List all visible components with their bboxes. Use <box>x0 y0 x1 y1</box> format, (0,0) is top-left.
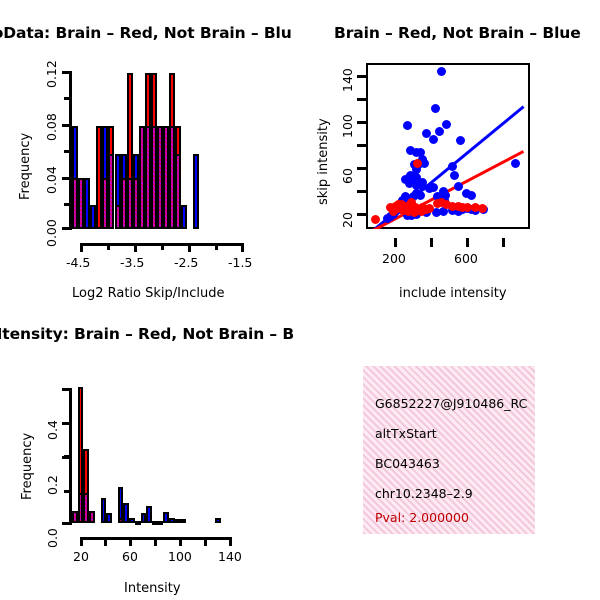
scatter-point-blue <box>437 67 446 76</box>
scatter-x-tick-800 <box>502 238 505 247</box>
intensity-x-tick-80 <box>154 537 157 546</box>
scatter-y-tick-40 <box>357 190 366 193</box>
ratio-y-tick-0.12 <box>62 71 70 74</box>
intensity-y-ticklabel-0.2: 0.2 <box>45 475 60 495</box>
scatter-x-ticklabel-600: 600 <box>454 251 478 266</box>
info-pval: Pval: 2.000000 <box>375 510 469 525</box>
intensity-x-ticklabel-140: 140 <box>218 549 242 564</box>
histogram-bar-blue <box>215 518 221 523</box>
intensity-y-ticklabel-0.4: 0.4 <box>45 420 60 440</box>
intensity-y-tick-top <box>62 388 70 391</box>
scatter-xlabel: include intensity <box>399 286 507 301</box>
scatter-point-blue <box>454 182 463 191</box>
scatter-y-ticklabel-60: 60 <box>340 168 355 184</box>
scatter-point-blue <box>456 136 465 145</box>
gene-info-panel: G6852227@J910486_RC altTxStart BC043463 … <box>363 366 535 534</box>
ratio-x-tick-1.5 <box>241 243 244 252</box>
intensity-x-tick-100 <box>179 537 182 546</box>
ratio-y-tick-0.08 <box>62 124 70 127</box>
scatter-point-blue <box>412 173 421 182</box>
histogram-bar-blue <box>181 519 187 523</box>
scatter-point-blue <box>383 214 392 223</box>
intensity-x-tick-60 <box>129 537 132 546</box>
info-event-type: altTxStart <box>375 426 437 441</box>
ratio-y-tick-0.04 <box>62 177 70 180</box>
intensity-x-tick-120 <box>204 537 207 546</box>
intensity-histogram-ylabel: Frequency <box>20 433 35 500</box>
intensity-x-ticklabel-100: 100 <box>168 549 192 564</box>
ratio-y-ticklabel-3: 0.00 <box>44 219 59 247</box>
scatter-point-blue <box>442 120 451 129</box>
intensity-x-ticklabel-60: 60 <box>122 549 138 564</box>
intensity-x-ticklabel-20: 20 <box>73 549 89 564</box>
ratio-x-tick-2.5 <box>188 243 191 252</box>
ratio-x-tick-4.0 <box>107 243 110 250</box>
scatter-ylabel: skip intensity <box>316 118 331 205</box>
info-locus: chr10.2348–2.9 <box>375 486 473 501</box>
ratio-histogram-ylabel: Frequency <box>18 133 33 200</box>
ratio-x-tick-2.0 <box>215 243 218 250</box>
ratio-y-tick-0.10 <box>64 97 70 100</box>
scatter-title: Brain – Red, Not Brain – Blue <box>334 24 581 42</box>
scatter-y-tick-120 <box>357 98 366 101</box>
ratio-x-ticklabel-2: -2.5 <box>174 255 198 270</box>
info-accession: BC043463 <box>375 456 440 471</box>
ratio-x-ticklabel-0: -4.5 <box>66 255 90 270</box>
scatter-point-red <box>425 204 434 213</box>
intensity-histogram-xlabel: Intensity <box>124 581 181 596</box>
ratio-y-ticklabel-2: 0.04 <box>44 166 59 194</box>
ratio-y-tick-0.06 <box>64 150 70 153</box>
scatter-y-ticklabel-20: 20 <box>340 212 355 228</box>
intensity-x-tick-40 <box>104 537 107 546</box>
scatter-point-blue <box>435 127 444 136</box>
scatter-y-ticklabel-140: 140 <box>340 68 355 92</box>
scatter-x-ticklabel-200: 200 <box>382 251 406 266</box>
scatter-x-tick-200 <box>394 238 397 247</box>
ratio-histogram-xlabel: Log2 Ratio Skip/Include <box>72 286 224 301</box>
ratio-x-tick-4.5 <box>80 243 83 252</box>
scatter-y-tick-60 <box>357 167 366 170</box>
ratio-x-ticklabel-3: -1.5 <box>228 255 252 270</box>
intensity-y-tick-0.4 <box>62 422 70 425</box>
scatter-points-layer <box>366 63 530 229</box>
ratio-y-ticklabel-1: 0.08 <box>44 113 59 141</box>
intensity-x-tick-140 <box>229 537 232 546</box>
intensity-y-tick-0.2 <box>62 456 70 459</box>
intensity-y-ticklabel-0.0: 0.0 <box>45 528 60 548</box>
scatter-point-blue <box>403 121 412 130</box>
scatter-y-ticklabel-100: 100 <box>340 114 355 138</box>
histogram-bar-blue <box>181 205 187 229</box>
histogram-bar-blue <box>193 154 199 229</box>
scatter-y-tick-100 <box>357 121 366 124</box>
scatter-point-blue <box>429 135 438 144</box>
ratio-x-tick-3.5 <box>134 243 137 252</box>
ratio-y-tick-0.00 <box>62 227 70 230</box>
scatter-point-blue <box>425 184 434 193</box>
intensity-histogram-title: ne Itensity: Brain – Red, Not Brain – B <box>0 325 294 343</box>
intensity-y-tick-0.0 <box>62 522 70 525</box>
scatter-point-blue <box>450 171 459 180</box>
scatter-point-blue <box>431 104 440 113</box>
intensity-y-tick-0.1 <box>64 490 70 493</box>
scatter-y-tick-80 <box>357 144 366 147</box>
scatter-y-tick-20 <box>357 213 366 216</box>
histogram-bar-blue <box>106 513 112 523</box>
ratio-y-tick-0.02 <box>64 203 70 206</box>
ratio-y-ticklabel-0: 0.12 <box>44 60 59 88</box>
scatter-point-red <box>407 198 416 207</box>
scatter-point-blue <box>511 159 520 168</box>
scatter-x-tick-600 <box>466 238 469 247</box>
info-probe-id: G6852227@J910486_RC <box>375 396 527 411</box>
scatter-x-tick-400 <box>430 238 433 247</box>
scatter-point-blue <box>448 162 457 171</box>
intensity-x-tick-20 <box>80 537 83 546</box>
ratio-histogram-title: RatioData: Brain – Red, Not Brain – Blu <box>0 24 292 42</box>
ratio-x-ticklabel-1: -3.5 <box>120 255 144 270</box>
scatter-point-blue <box>467 191 476 200</box>
histogram-bar-overlap <box>89 511 95 523</box>
scatter-y-tick-140 <box>357 75 366 78</box>
ratio-x-tick-3.0 <box>161 243 164 250</box>
